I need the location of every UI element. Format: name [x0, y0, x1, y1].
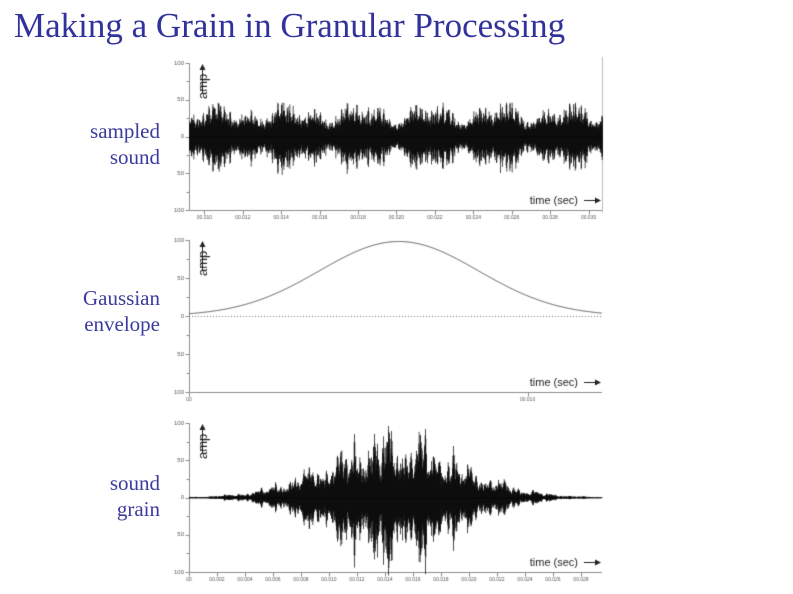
- row-label-line1: sampled: [90, 119, 160, 143]
- page-title: Making a Grain in Granular Processing: [14, 4, 779, 48]
- row-label-line2: sound: [10, 144, 160, 170]
- chart-canvas: [160, 230, 630, 408]
- row-label-line1: Gaussian: [83, 286, 160, 310]
- slide-root: Making a Grain in Granular Processing sa…: [0, 0, 793, 594]
- row-label-gaussian-envelope: Gaussian envelope: [10, 285, 160, 337]
- row-label-sampled-sound: sampled sound: [10, 118, 160, 170]
- row-label-sound-grain: sound grain: [10, 470, 160, 522]
- chart-gaussian-envelope: [160, 230, 630, 408]
- row-label-line2: grain: [10, 496, 160, 522]
- x-axis-label: time (sec): [0, 0, 1, 1]
- y-axis-label: amp: [0, 0, 1, 1]
- row-label-line1: sound: [110, 471, 160, 495]
- chart-canvas: [160, 55, 630, 230]
- row-label-line2: envelope: [10, 311, 160, 337]
- chart-sampled-sound: [160, 55, 630, 230]
- chart-sound-grain: [160, 415, 630, 587]
- chart-canvas: [160, 415, 630, 587]
